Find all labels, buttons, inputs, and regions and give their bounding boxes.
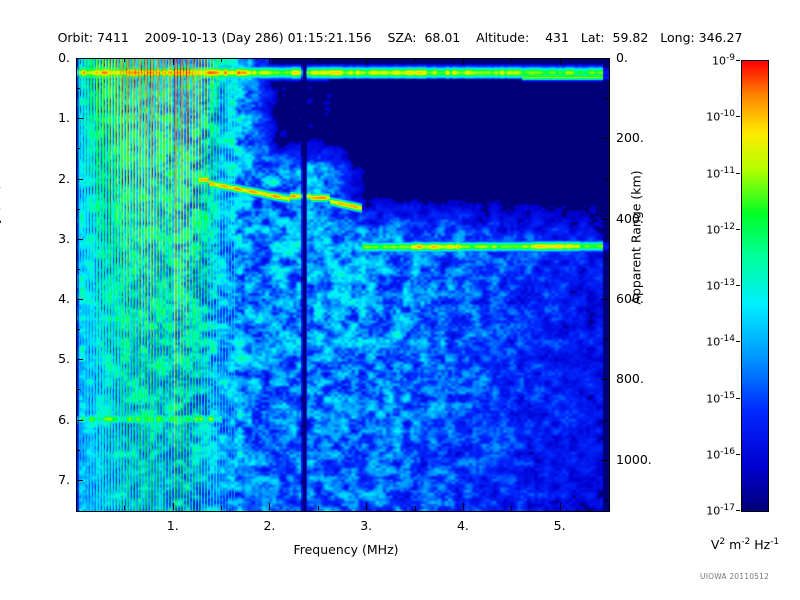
y-tick-mark-left xyxy=(76,420,83,421)
y-tick-label-left: 2. xyxy=(32,171,70,186)
x-minor-tick xyxy=(318,506,319,510)
x-minor-tick-top xyxy=(221,58,222,62)
y-minor-tick-left xyxy=(76,148,80,149)
x-minor-tick xyxy=(511,506,512,510)
x-tick-label: 2. xyxy=(249,518,289,533)
colorbar-tick-mark xyxy=(736,510,740,511)
y-tick-mark-left xyxy=(76,299,83,300)
y-tick-mark-right xyxy=(601,58,608,59)
y-tick-mark-left xyxy=(76,118,83,119)
x-tick-mark xyxy=(463,503,464,510)
colorbar-tick-label: 10-17 xyxy=(689,503,735,518)
colorbar-tick-label: 10-11 xyxy=(689,166,735,181)
cb-units-hz: Hz xyxy=(750,537,770,552)
colorbar-tick-label: 10-12 xyxy=(689,222,735,237)
y-tick-mark-left xyxy=(76,58,83,59)
y-minor-tick-left xyxy=(76,88,80,89)
x-tick-mark-top xyxy=(463,58,464,65)
y-tick-label-left: 3. xyxy=(32,231,70,246)
x-tick-mark-top xyxy=(173,58,174,65)
cb-units-exp3: -1 xyxy=(770,537,779,547)
colorbar-tick-label: 10-15 xyxy=(689,391,735,406)
x-tick-mark-top xyxy=(560,58,561,65)
y-tick-mark-right xyxy=(601,299,608,300)
x-tick-mark xyxy=(366,503,367,510)
y-minor-tick-right xyxy=(604,98,608,99)
y-tick-label-right: 0. xyxy=(616,50,662,65)
y-minor-tick-right xyxy=(604,179,608,180)
y-minor-tick-right xyxy=(604,420,608,421)
y-tick-label-left: 4. xyxy=(32,291,70,306)
y-tick-mark-left xyxy=(76,239,83,240)
y-tick-label-left: 0. xyxy=(32,50,70,65)
x-tick-label: 1. xyxy=(153,518,193,533)
y-tick-mark-right xyxy=(601,138,608,139)
colorbar-tick-label: 10-14 xyxy=(689,334,735,349)
x-tick-label: 3. xyxy=(346,518,386,533)
x-tick-mark xyxy=(173,503,174,510)
x-tick-mark xyxy=(560,503,561,510)
x-minor-tick-top xyxy=(124,58,125,62)
y-axis-label-right: Apparent Range (km) xyxy=(629,128,644,348)
y-tick-mark-left xyxy=(76,480,83,481)
colorbar-tick-mark xyxy=(736,116,740,117)
y-tick-label-right: 800. xyxy=(616,371,662,386)
colorbar-tick-mark xyxy=(736,229,740,230)
y-tick-mark-left xyxy=(76,179,83,180)
colorbar-tick-mark xyxy=(736,341,740,342)
cb-units-exp2: -2 xyxy=(741,537,750,547)
x-tick-label: 4. xyxy=(443,518,483,533)
x-minor-tick-top xyxy=(318,58,319,62)
y-tick-mark-right xyxy=(601,460,608,461)
x-tick-label: 5. xyxy=(540,518,580,533)
colorbar-tick-mark xyxy=(736,60,740,61)
colorbar-canvas xyxy=(742,61,768,511)
y-tick-label-left: 1. xyxy=(32,110,70,125)
colorbar-tick-label: 10-9 xyxy=(689,53,735,68)
x-minor-tick-top xyxy=(511,58,512,62)
colorbar-tick-label: 10-10 xyxy=(689,109,735,124)
colorbar-tick-mark xyxy=(736,454,740,455)
y-minor-tick-left xyxy=(76,329,80,330)
radargram-canvas xyxy=(77,59,609,511)
credit-text: UIOWA 20110512 xyxy=(700,572,769,581)
x-minor-tick xyxy=(124,506,125,510)
header-info: Orbit: 7411 2009-10-13 (Day 286) 01:15:2… xyxy=(0,30,800,45)
y-minor-tick-left xyxy=(76,450,80,451)
y-minor-tick-right xyxy=(604,339,608,340)
colorbar-tick-label: 10-16 xyxy=(689,447,735,462)
y-minor-tick-right xyxy=(604,500,608,501)
x-minor-tick-top xyxy=(415,58,416,62)
radargram-plot xyxy=(76,58,610,512)
colorbar-tick-mark xyxy=(736,398,740,399)
y-axis-label-left: Time Delay (ms) xyxy=(0,136,2,336)
colorbar-tick-mark xyxy=(736,173,740,174)
x-axis-label: Frequency (MHz) xyxy=(186,542,506,557)
colorbar-tick-label: 10-13 xyxy=(689,278,735,293)
y-minor-tick-left xyxy=(76,209,80,210)
y-minor-tick-right xyxy=(604,259,608,260)
colorbar xyxy=(741,60,769,512)
x-minor-tick xyxy=(415,506,416,510)
y-tick-mark-right xyxy=(601,219,608,220)
y-minor-tick-left xyxy=(76,389,80,390)
x-tick-mark-top xyxy=(269,58,270,65)
y-tick-label-right: 1000. xyxy=(616,452,662,467)
y-tick-label-left: 6. xyxy=(32,412,70,427)
cb-units-m: m xyxy=(725,537,741,552)
x-tick-mark xyxy=(269,503,270,510)
x-minor-tick xyxy=(221,506,222,510)
y-tick-label-left: 7. xyxy=(32,472,70,487)
colorbar-tick-mark xyxy=(736,285,740,286)
y-minor-tick-left xyxy=(76,269,80,270)
x-tick-mark-top xyxy=(366,58,367,65)
y-tick-mark-left xyxy=(76,359,83,360)
y-tick-label-left: 5. xyxy=(32,351,70,366)
colorbar-units-label: V2 m-2 Hz-1 xyxy=(690,537,800,552)
y-tick-mark-right xyxy=(601,379,608,380)
